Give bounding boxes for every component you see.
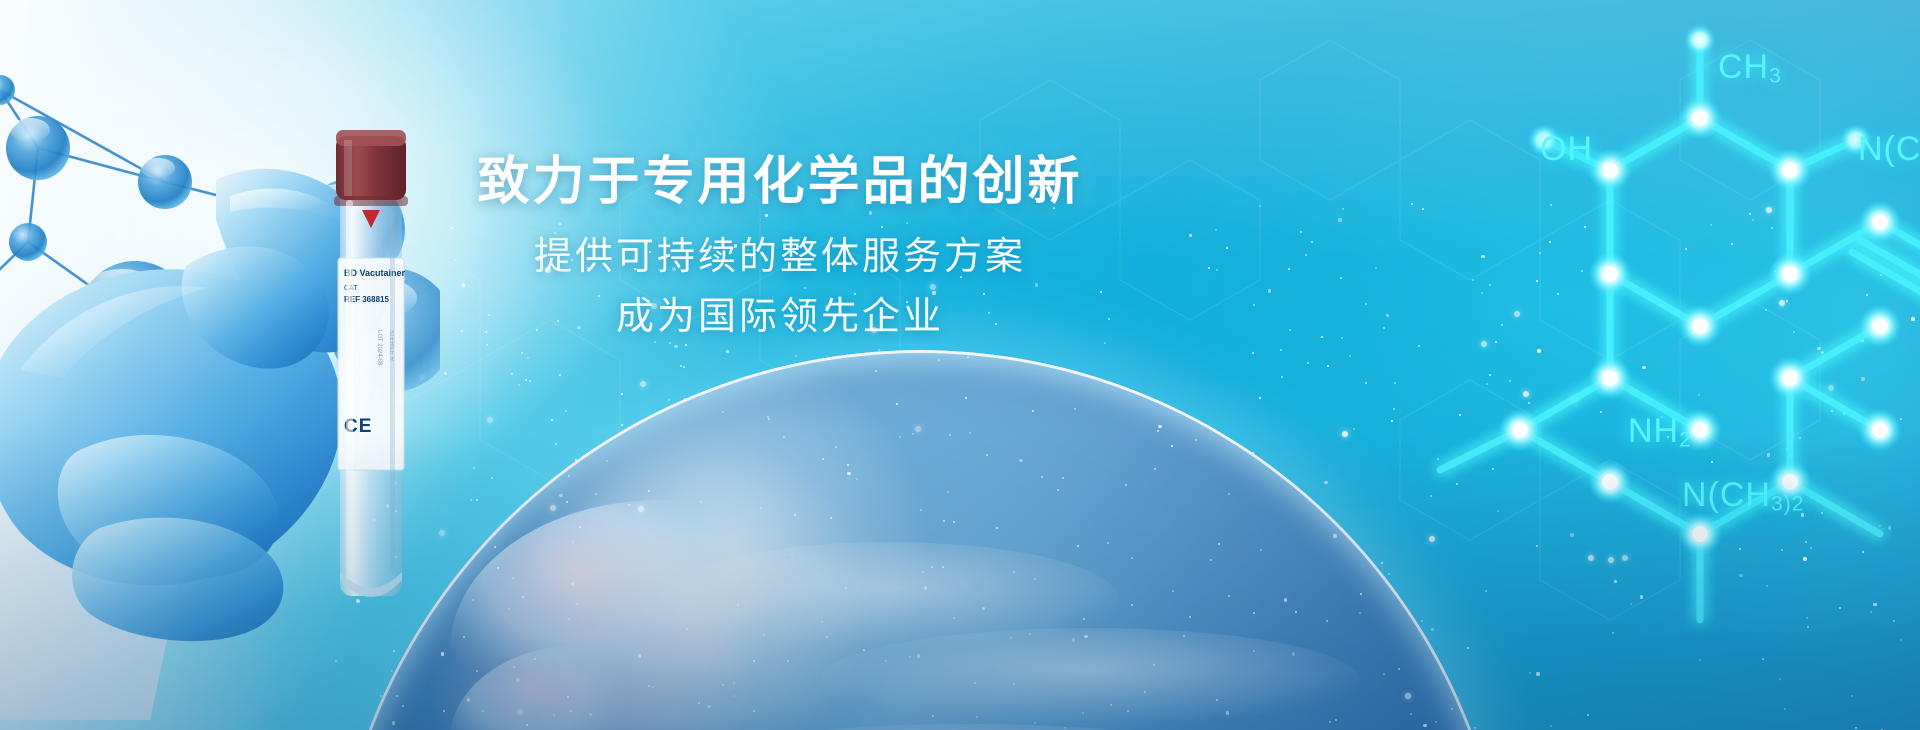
chem-label-nh2: NH2 [1628,412,1692,453]
chem-label-nch32: N(CH3)2 [1682,476,1804,517]
chem-label-nch3-top: N(CH3 [1858,130,1920,171]
chemical-label-group: CH3OHN(CH3NH2N(CH3)2 [1140,0,1920,730]
chem-label-oh: OH [1540,130,1593,169]
chem-label-ch3: CH3 [1718,48,1782,89]
hero-banner: CH3OHN(CH3NH2N(CH3)2 [0,0,1920,730]
gloved-hand-icon: BD Vacutainer CAT REF 368815 CE LOT 2024… [0,60,500,730]
svg-text:LOT 2024-08: LOT 2024-08 [376,330,382,366]
svg-text:BD Vacutainer: BD Vacutainer [344,268,406,278]
